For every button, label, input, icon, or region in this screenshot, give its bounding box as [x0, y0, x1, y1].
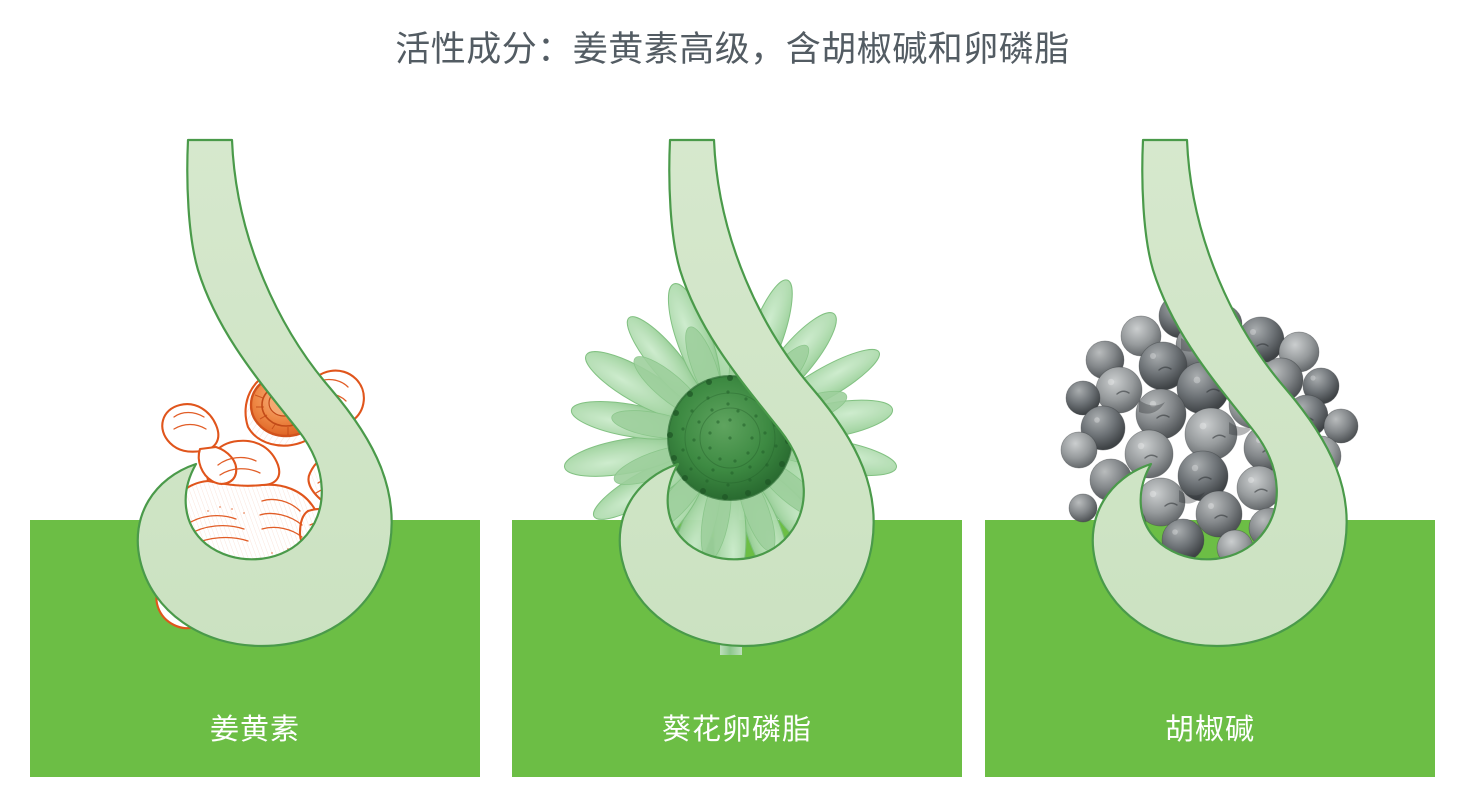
ingredient-infographic: 活性成分：姜黄素高级，含胡椒碱和卵磷脂	[0, 0, 1465, 810]
panel-sunflower-lecithin: 葵花卵磷脂	[512, 120, 962, 777]
panel-label-curcumin: 姜黄素	[30, 677, 480, 777]
panel-label-sunflower-lecithin: 葵花卵磷脂	[512, 677, 962, 777]
panel-curcumin: 姜黄素	[30, 120, 480, 777]
panel-label-piperine: 胡椒碱	[985, 677, 1435, 777]
page-title: 活性成分：姜黄素高级，含胡椒碱和卵磷脂	[0, 28, 1465, 72]
panel-piperine: 胡椒碱	[985, 120, 1435, 777]
